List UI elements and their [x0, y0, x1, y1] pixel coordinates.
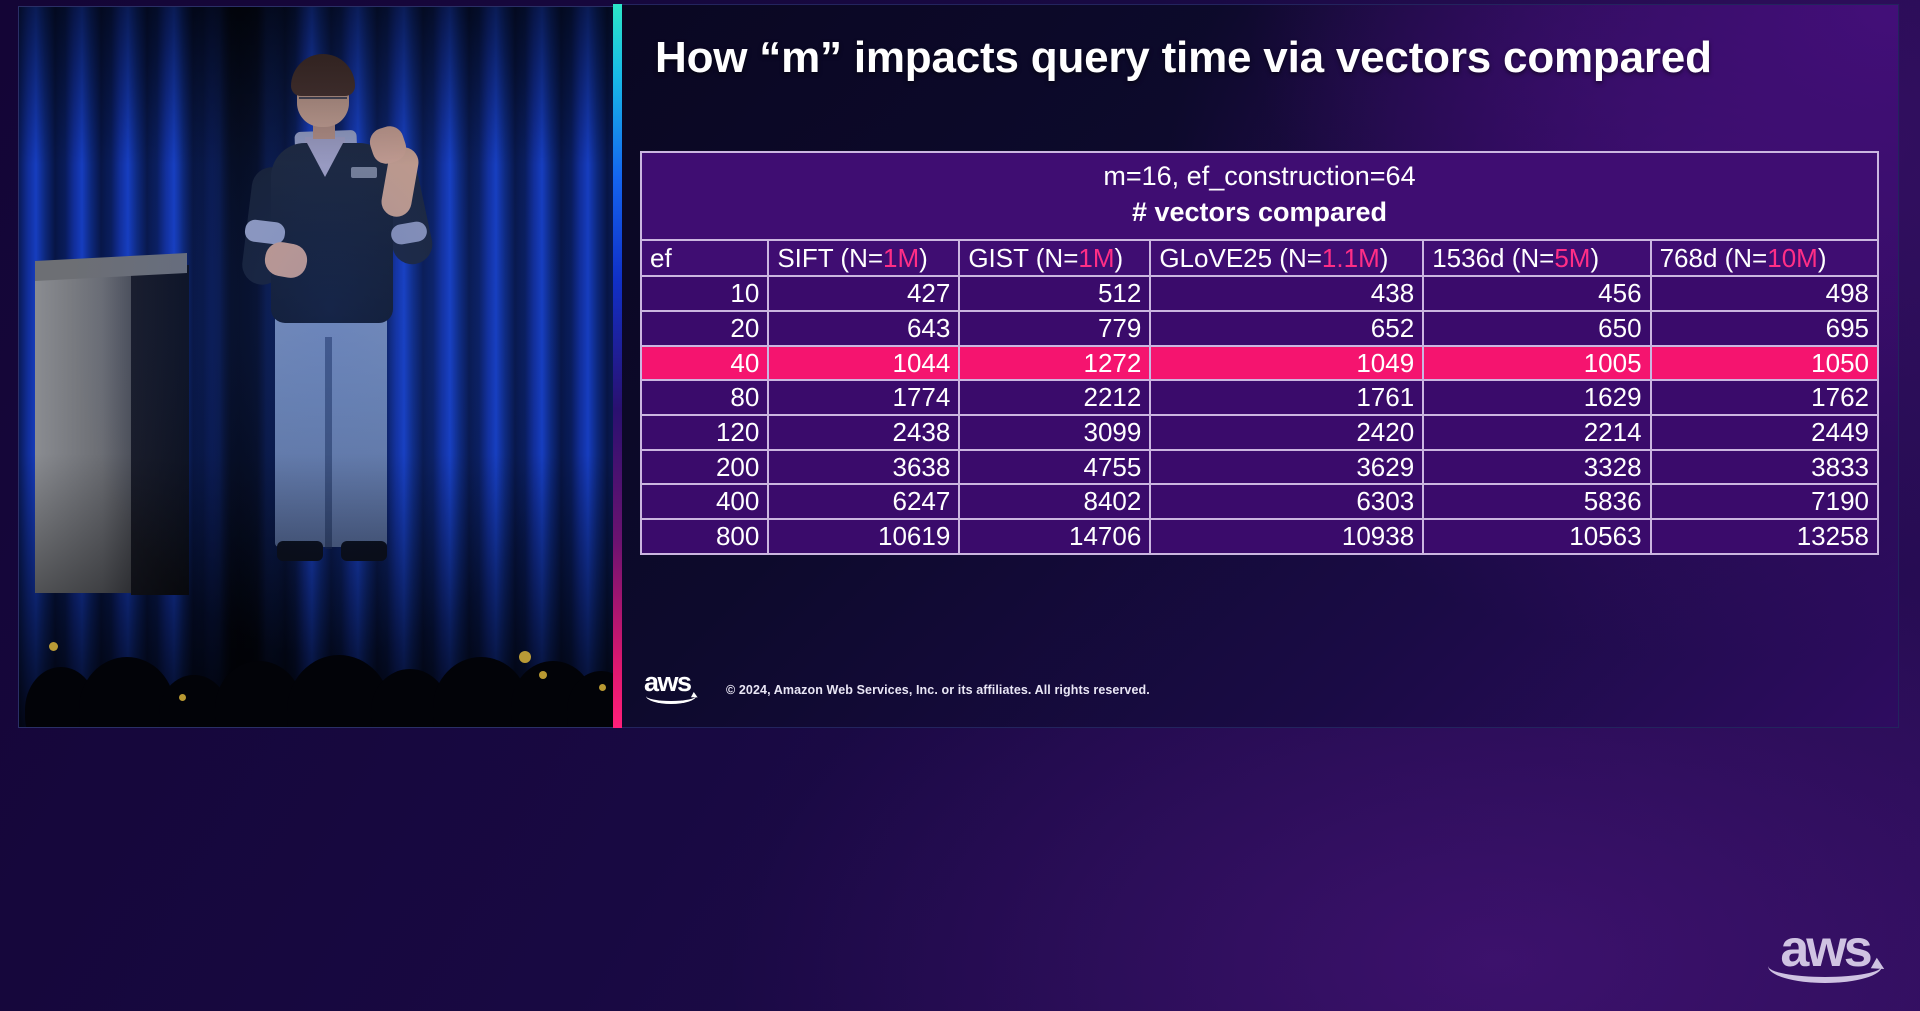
column-header-prefix: 768d (N=	[1660, 243, 1768, 273]
cell-d1536: 1005	[1423, 346, 1650, 381]
cell-d768: 1050	[1651, 346, 1878, 381]
cell-ef: 800	[641, 519, 768, 554]
cell-d768: 1762	[1651, 380, 1878, 415]
table-caption-cell: m=16, ef_construction=64 # vectors compa…	[641, 152, 1878, 240]
slide-title: How “m” impacts query time via vectors c…	[655, 33, 1878, 83]
cell-d768: 695	[1651, 311, 1878, 346]
presentation-slide: How “m” impacts query time via vectors c…	[613, 4, 1899, 728]
cell-d1536: 650	[1423, 311, 1650, 346]
cell-gist: 1272	[959, 346, 1150, 381]
cell-gist: 779	[959, 311, 1150, 346]
table-row: 12024383099242022142449	[641, 415, 1878, 450]
column-header-sift: SIFT (N=1M)	[768, 240, 959, 277]
cell-gist: 4755	[959, 450, 1150, 485]
column-header-n-value: 10M	[1767, 243, 1818, 273]
slide-footer: aws © 2024, Amazon Web Services, Inc. or…	[644, 669, 1150, 703]
stage-background	[19, 7, 617, 727]
column-header-n-value: 1M	[1078, 243, 1114, 273]
cell-sift: 427	[768, 276, 959, 311]
cell-d1536: 1629	[1423, 380, 1650, 415]
table-caption-metric: # vectors compared	[650, 197, 1869, 229]
brand-aws-logo-icon: aws	[1760, 923, 1890, 985]
cell-sift: 10619	[768, 519, 959, 554]
brand-aws-smile-icon	[1768, 949, 1882, 983]
column-header-gist: GIST (N=1M)	[959, 240, 1150, 277]
cell-d768: 13258	[1651, 519, 1878, 554]
cell-d768: 7190	[1651, 484, 1878, 519]
column-header-n-value: 1.1M	[1322, 243, 1380, 273]
audience-silhouettes	[19, 547, 617, 727]
cell-ef: 80	[641, 380, 768, 415]
table-caption-params: m=16, ef_construction=64	[1103, 161, 1415, 191]
cell-d768: 2449	[1651, 415, 1878, 450]
column-header-prefix: SIFT (N=	[777, 243, 883, 273]
cell-d1536: 456	[1423, 276, 1650, 311]
table-row: 40062478402630358367190	[641, 484, 1878, 519]
cell-d1536: 10563	[1423, 519, 1650, 554]
cell-glove25: 438	[1150, 276, 1423, 311]
column-header-d768: 768d (N=10M)	[1651, 240, 1878, 277]
cell-ef: 10	[641, 276, 768, 311]
column-header-suffix: )	[1115, 243, 1124, 273]
cell-ef: 40	[641, 346, 768, 381]
table-row: 20643779652650695	[641, 311, 1878, 346]
cell-sift: 1774	[768, 380, 959, 415]
cell-d768: 498	[1651, 276, 1878, 311]
slide-accent-bar	[613, 4, 622, 728]
table-row: 4010441272104910051050	[641, 346, 1878, 381]
cell-ef: 400	[641, 484, 768, 519]
cell-sift: 6247	[768, 484, 959, 519]
aws-smile-icon	[646, 688, 696, 704]
cell-sift: 3638	[768, 450, 959, 485]
copyright-text: © 2024, Amazon Web Services, Inc. or its…	[726, 683, 1150, 703]
column-header-glove25: GLoVE25 (N=1.1M)	[1150, 240, 1423, 277]
table-row: 8001061914706109381056313258	[641, 519, 1878, 554]
column-header-prefix: 1536d (N=	[1432, 243, 1554, 273]
cell-glove25: 1049	[1150, 346, 1423, 381]
column-header-suffix: )	[1590, 243, 1599, 273]
results-table-wrapper: m=16, ef_construction=64 # vectors compa…	[640, 151, 1879, 555]
table-body: 1042751243845649820643779652650695401044…	[641, 276, 1878, 553]
cell-glove25: 2420	[1150, 415, 1423, 450]
cell-gist: 8402	[959, 484, 1150, 519]
cell-ef: 20	[641, 311, 768, 346]
column-header-n-value: 1M	[883, 243, 919, 273]
results-table: m=16, ef_construction=64 # vectors compa…	[640, 151, 1879, 555]
cell-glove25: 652	[1150, 311, 1423, 346]
aws-logo-icon: aws	[644, 669, 698, 703]
cell-d1536: 5836	[1423, 484, 1650, 519]
column-header-suffix: )	[1380, 243, 1389, 273]
cell-glove25: 10938	[1150, 519, 1423, 554]
cell-sift: 2438	[768, 415, 959, 450]
speaker-video-panel[interactable]	[18, 6, 618, 728]
table-caption-row: m=16, ef_construction=64 # vectors compa…	[641, 152, 1878, 240]
table-row: 10427512438456498	[641, 276, 1878, 311]
table-column-header-row: efSIFT (N=1M)GIST (N=1M)GLoVE25 (N=1.1M)…	[641, 240, 1878, 277]
cell-gist: 2212	[959, 380, 1150, 415]
cell-d768: 3833	[1651, 450, 1878, 485]
column-header-d1536: 1536d (N=5M)	[1423, 240, 1650, 277]
cell-gist: 14706	[959, 519, 1150, 554]
table-row: 8017742212176116291762	[641, 380, 1878, 415]
column-header-n-value: 5M	[1554, 243, 1590, 273]
cell-glove25: 1761	[1150, 380, 1423, 415]
column-header-suffix: )	[1818, 243, 1827, 273]
column-header-prefix: GLoVE25 (N=	[1159, 243, 1322, 273]
cell-ef: 200	[641, 450, 768, 485]
column-header-ef: ef	[641, 240, 768, 277]
column-header-suffix: )	[919, 243, 928, 273]
cell-ef: 120	[641, 415, 768, 450]
cell-sift: 1044	[768, 346, 959, 381]
cell-gist: 3099	[959, 415, 1150, 450]
cell-glove25: 6303	[1150, 484, 1423, 519]
cell-d1536: 2214	[1423, 415, 1650, 450]
column-header-prefix: GIST (N=	[968, 243, 1078, 273]
table-row: 20036384755362933283833	[641, 450, 1878, 485]
cell-d1536: 3328	[1423, 450, 1650, 485]
cell-sift: 643	[768, 311, 959, 346]
cell-gist: 512	[959, 276, 1150, 311]
cell-glove25: 3629	[1150, 450, 1423, 485]
